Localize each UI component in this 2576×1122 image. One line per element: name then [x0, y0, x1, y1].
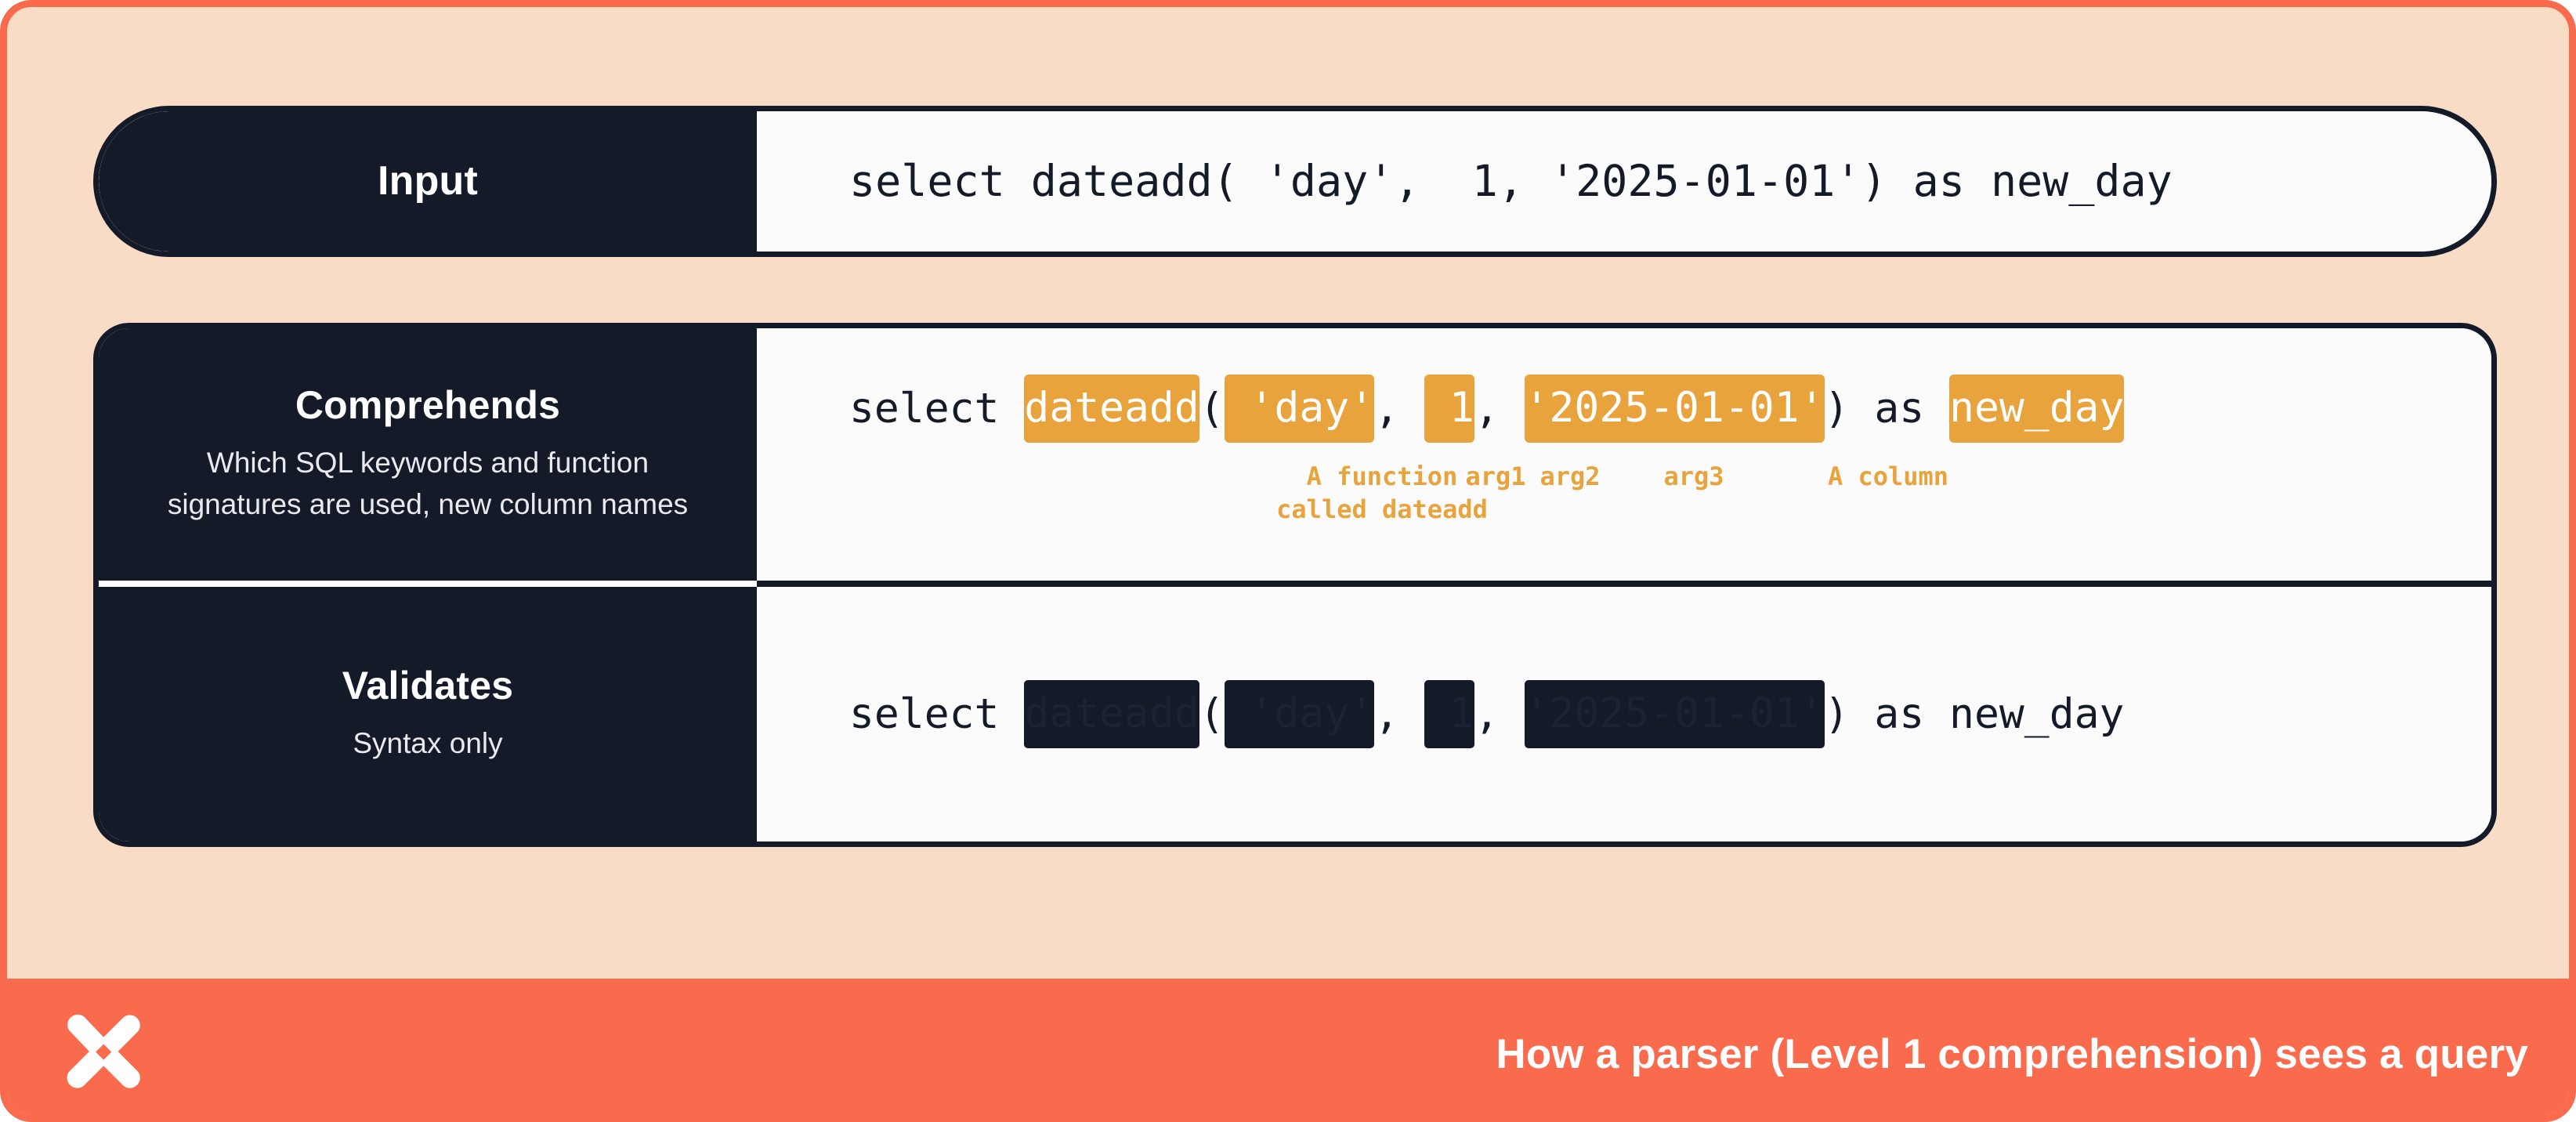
poster-card: Input select dateadd( 'day', 1, '2025-01… [0, 0, 2576, 1122]
code-text: 1, [1446, 160, 1550, 203]
code-redaction-chip: 1 [1424, 680, 1474, 748]
code-text: ) as [1825, 388, 1950, 429]
comprehends-row-title: Comprehends [295, 384, 560, 427]
input-row-title: Input [378, 159, 478, 204]
divider-line [757, 581, 2491, 587]
code-text: , [1474, 693, 1525, 735]
comprehends-row: Comprehends Which SQL keywords and funct… [99, 328, 2491, 581]
validates-label-cell: Validates Syntax only [99, 587, 757, 841]
comprehends-row-subtitle: Which SQL keywords and function signatur… [138, 443, 718, 525]
comprehends-code-cell: select dateadd( 'day', 1, '2025-01-01') … [757, 328, 2491, 581]
footer-bar: How a parser (Level 1 comprehension) see… [7, 979, 2576, 1122]
code-highlight-chip: dateadd [1024, 375, 1199, 443]
row-divider [99, 581, 2491, 587]
code-text: , [1474, 388, 1525, 429]
code-highlight-chip: '2025-01-01' [1525, 375, 1825, 443]
code-annotation-label: arg1 [1465, 460, 1525, 494]
validates-row-subtitle: Syntax only [353, 723, 502, 765]
code-text: ( [1199, 388, 1225, 429]
four-point-star-logo-icon [59, 1008, 151, 1100]
code-annotation-label: A column [1828, 460, 1948, 494]
code-redaction-chip: '2025-01-01' [1525, 680, 1825, 748]
comprehends-annotation-row: A function called dateaddarg1arg2arg3A c… [849, 460, 2491, 535]
divider-left-gap [99, 581, 757, 587]
code-text: ) as new_day [1825, 693, 2125, 735]
code-text: dateadd( [1031, 160, 1239, 203]
validates-code-line: select dateadd( 'day', 1, '2025-01-01') … [849, 680, 2491, 748]
lower-card: Comprehends Which SQL keywords and funct… [93, 323, 2497, 847]
code-text: select [849, 693, 1024, 735]
input-code-line: select dateadd( 'day', 1, '2025-01-01') … [849, 160, 2173, 203]
code-text: , [1374, 388, 1424, 429]
code-text: ) as new_day [1861, 160, 2172, 203]
code-text: select [849, 388, 1024, 429]
code-text: 'day', [1239, 160, 1446, 203]
code-redaction-chip: dateadd [1024, 680, 1199, 748]
code-text: , [1374, 693, 1424, 735]
validates-row: Validates Syntax only select dateadd( 'd… [99, 587, 2491, 841]
comprehends-label-cell: Comprehends Which SQL keywords and funct… [99, 328, 757, 581]
code-highlight-chip: new_day [1949, 375, 2124, 443]
code-text: ( [1199, 693, 1225, 735]
code-annotation-label: arg2 [1539, 460, 1600, 494]
input-row: Input select dateadd( 'day', 1, '2025-01… [93, 106, 2497, 257]
validates-code-cell: select dateadd( 'day', 1, '2025-01-01') … [757, 587, 2491, 841]
validates-row-title: Validates [342, 664, 514, 708]
code-highlight-chip: 'day' [1225, 375, 1374, 443]
footer-caption: How a parser (Level 1 comprehension) see… [1496, 1030, 2528, 1078]
code-annotation-label: A function called dateadd [1276, 460, 1488, 527]
code-annotation-label: arg3 [1663, 460, 1724, 494]
input-label-cell: Input [99, 111, 757, 252]
code-redaction-chip: 'day' [1225, 680, 1374, 748]
diagram-stage: Input select dateadd( 'day', 1, '2025-01… [7, 7, 2576, 979]
code-highlight-chip: 1 [1424, 375, 1474, 443]
comprehends-code-line: select dateadd( 'day', 1, '2025-01-01') … [849, 375, 2491, 443]
code-text: '2025-01-01' [1550, 160, 1861, 203]
input-code-cell: select dateadd( 'day', 1, '2025-01-01') … [757, 111, 2491, 252]
code-text: select [849, 160, 1031, 203]
